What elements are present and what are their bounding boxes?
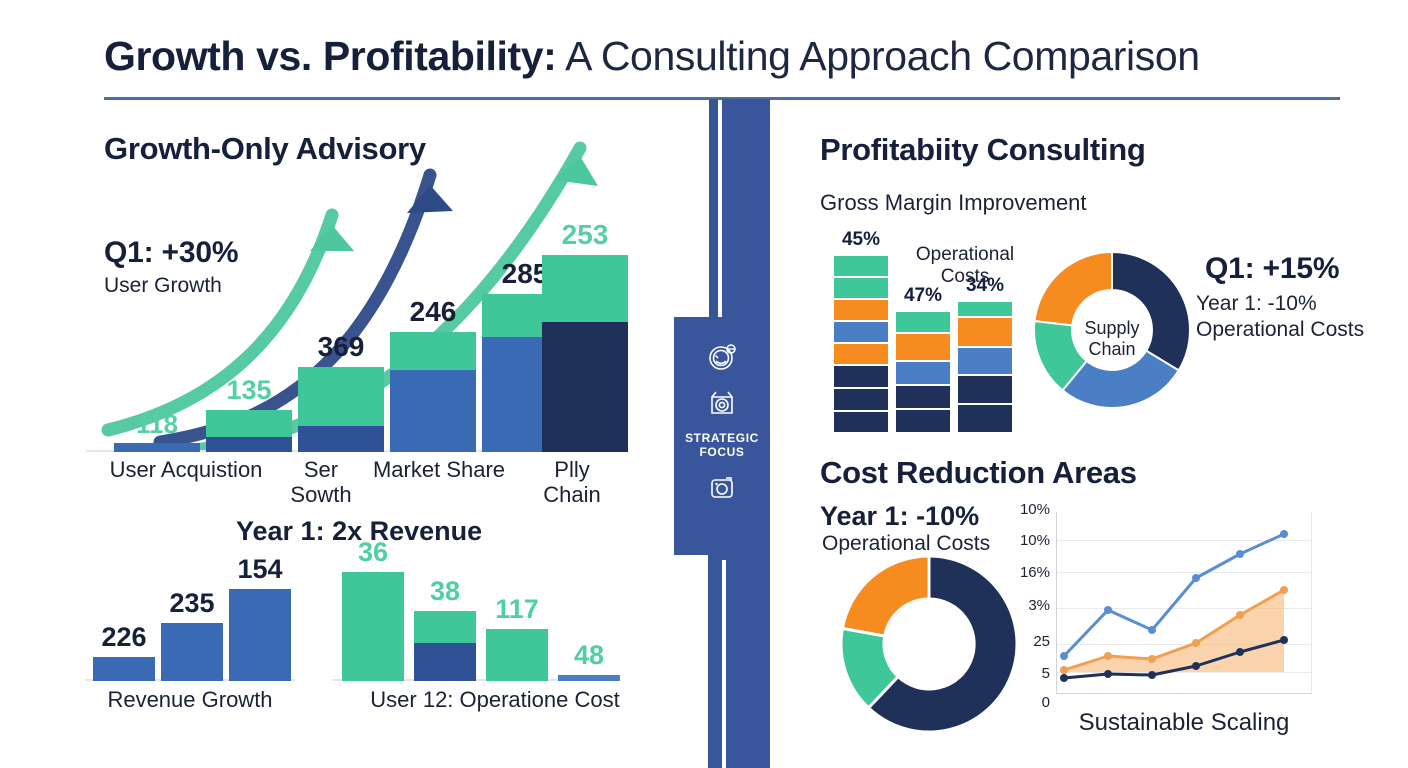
ytick-0: 10%	[1006, 501, 1050, 518]
strategic-focus-line1: STRATEGIC	[685, 431, 759, 445]
opcost-bar-1	[342, 572, 404, 681]
right-section-heading: Profitabiity Consulting	[820, 132, 1145, 168]
right-callout-label-1: Year 1: -10%	[1196, 292, 1317, 316]
opcost-bar-4	[558, 675, 620, 681]
opcost-bar-value-4: 48	[554, 640, 624, 671]
bar-ser-sowth	[298, 367, 384, 452]
opcost-bar-3	[486, 629, 548, 681]
bar-value-4: 246	[386, 296, 480, 328]
category-label-user-acquisition: User Acquistion	[96, 458, 276, 483]
box-gear-icon	[674, 385, 770, 424]
ytick-1: 10%	[1006, 532, 1050, 549]
operational-costs-annotation: OperationalCosts	[910, 244, 1020, 289]
opcost-bar-value-2: 38	[410, 576, 480, 607]
revenue-bar-value-1: 226	[87, 622, 161, 653]
ytick-5: 5	[1006, 665, 1050, 682]
bar-user-acquisition	[114, 443, 200, 452]
category-label-plly-chain: PllyChain	[522, 458, 622, 507]
divider-bottom-highlight	[722, 560, 726, 768]
right-section-subheading: Gross Margin Improvement	[820, 190, 1087, 216]
bar-2	[206, 410, 292, 452]
ytick-4: 25	[1006, 633, 1050, 650]
bar-value-2: 135	[202, 375, 296, 406]
margin-value-1: 45%	[829, 229, 893, 251]
opcost-bar-2	[414, 611, 476, 681]
sustainable-scaling-line-chart	[1056, 512, 1312, 694]
strategic-focus-label: STRATEGIC FOCUS	[674, 432, 770, 460]
revenue-bar-value-2: 235	[155, 588, 229, 619]
page-title: Growth vs. Profitability: A Consulting A…	[104, 32, 1344, 80]
camera-icon	[674, 470, 770, 509]
supply-chain-donut-center-label: Supply Chain	[1058, 318, 1166, 359]
donut-center-line2: Chain	[1088, 339, 1135, 359]
bar-value-6: 253	[538, 219, 632, 251]
growth-stacked-bar-chart: 118 135 369 246 285 253	[86, 200, 626, 452]
margin-stack-2	[895, 311, 951, 433]
divider-bottom-bar	[708, 555, 770, 768]
category-label-operatione-cost: User 12: Operatione Cost	[330, 688, 660, 713]
opcost-bar-value-1: 36	[338, 537, 408, 568]
revenue-bar-value-3: 154	[223, 554, 297, 585]
right-callout-label-2: Operational Costs	[1196, 318, 1364, 342]
ytick-6: 0	[1006, 694, 1050, 711]
right-callout-value: Q1: +15%	[1205, 252, 1339, 286]
category-label-market-share: Market Share	[358, 458, 520, 483]
cost-reduction-donut-chart	[836, 551, 1022, 737]
line-chart-xlabel: Sustainable Scaling	[1056, 710, 1312, 737]
margin-stack-3	[957, 301, 1013, 433]
divider-top-bar	[709, 99, 718, 317]
bar-plly-chain	[542, 255, 628, 452]
bar-value-1: 118	[114, 409, 200, 440]
page-title-light: A Consulting Approach Comparison	[556, 33, 1199, 79]
target-smiley-icon	[674, 340, 770, 379]
page-title-bold: Growth vs. Profitability:	[104, 33, 556, 79]
operations-cost-bar-chart: 36 38 117 48	[332, 555, 592, 681]
margin-stack-1	[833, 255, 889, 433]
revenue-growth-bar-chart: 226 235 154	[85, 555, 295, 681]
revenue-bar-1	[93, 657, 155, 681]
revenue-bar-3	[229, 589, 291, 681]
bar-4	[390, 332, 476, 452]
bar-value-3: 369	[294, 331, 388, 363]
ytick-2: 16%	[1006, 564, 1050, 581]
ytick-3: 3%	[1006, 597, 1050, 614]
revenue-bar-2	[161, 623, 223, 681]
opcost-bar-value-3: 117	[482, 594, 552, 625]
category-label-revenue-growth: Revenue Growth	[85, 688, 295, 713]
cost-reduction-callout-value: Year 1: -10%	[820, 501, 979, 532]
strategic-focus-line2: FOCUS	[700, 445, 745, 459]
cost-reduction-heading: Cost Reduction Areas	[820, 455, 1137, 491]
category-label-ser-sowth: SerSowth	[272, 458, 370, 507]
donut-center-line1: Supply	[1084, 318, 1139, 338]
strategic-focus-group: STRATEGIC FOCUS	[674, 340, 770, 515]
